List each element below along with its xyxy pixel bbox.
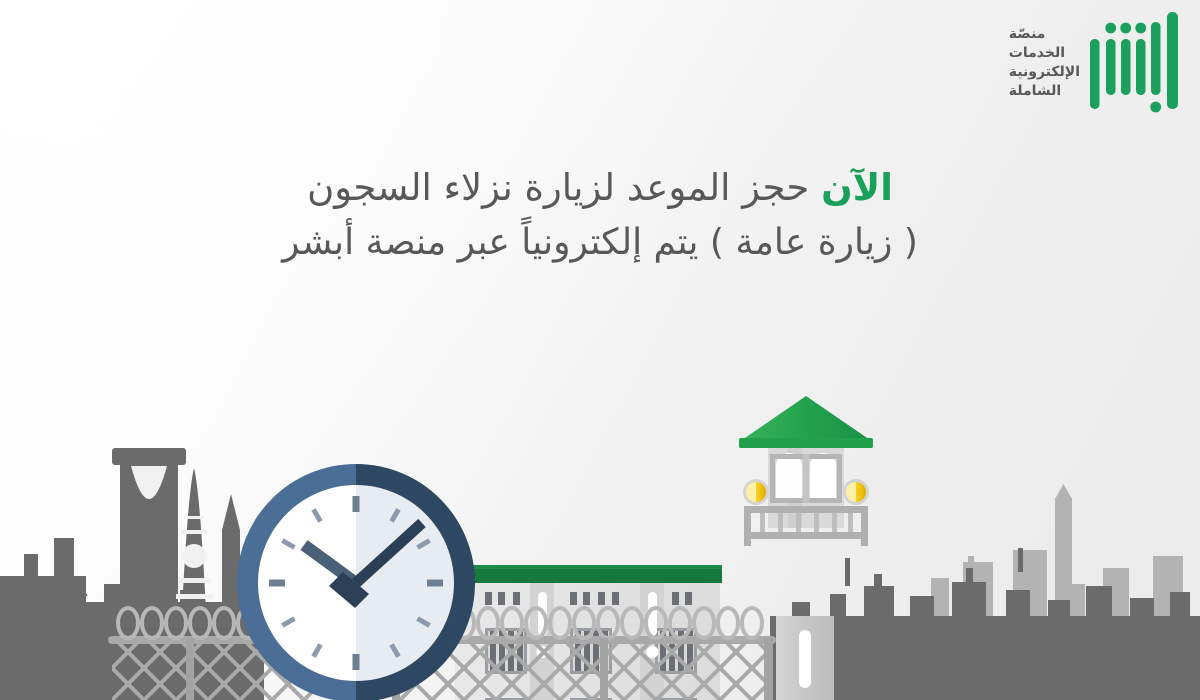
scene-svg	[0, 380, 1200, 700]
headline-line-2: ( زيارة عامة ) يتم إلكترونياً عبر منصة أ…	[60, 216, 1140, 271]
illustration-scene	[0, 380, 1200, 700]
wall-clock-svg	[233, 460, 479, 700]
headline-line-1: الآن حجز الموعد لزيارة نزلاء السجون	[60, 160, 1140, 216]
logo-line-2: الخدمات	[1009, 45, 1065, 63]
headline-accent-now: الآن	[821, 166, 893, 209]
watchtower-roof	[739, 396, 873, 442]
logo-line-1: منصّة	[1009, 26, 1046, 44]
logo-line-4: الشاملة	[1009, 83, 1061, 101]
headline-block: الآن حجز الموعد لزيارة نزلاء السجون ( زي…	[0, 160, 1200, 271]
absher-logo[interactable]: منصّة الخدمات الإلكترونية الشاملة	[1009, 12, 1182, 116]
logo-line-3: الإلكترونية	[1009, 64, 1080, 82]
absher-logo-mark	[1090, 12, 1182, 116]
absher-logo-wordmark: منصّة الخدمات الإلكترونية الشاملة	[1009, 12, 1080, 101]
headline-line-1-rest: حجز الموعد لزيارة نزلاء السجون	[307, 166, 809, 209]
watchtower-windows	[770, 453, 842, 503]
banner-root: منصّة الخدمات الإلكترونية الشاملة الآن ح…	[0, 0, 1200, 700]
wall-clock	[233, 460, 479, 700]
